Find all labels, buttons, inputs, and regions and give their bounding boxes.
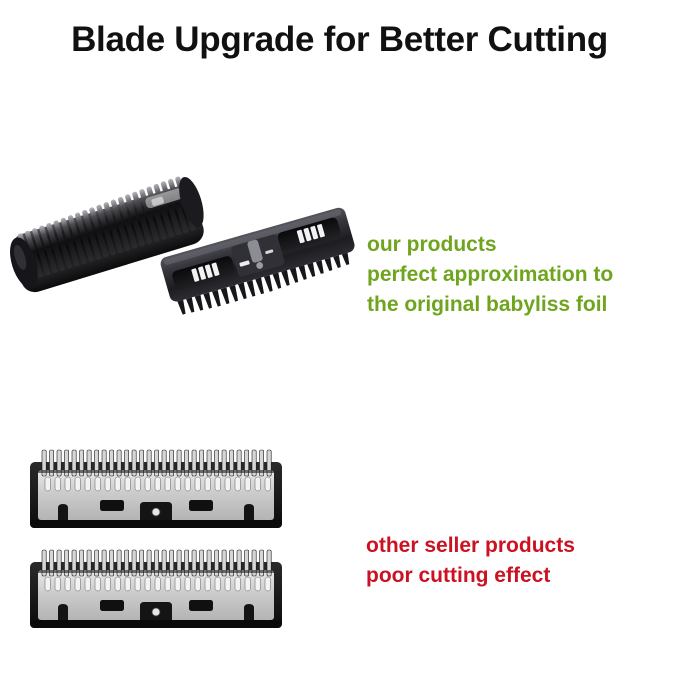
product-comparison-image: Blade Upgrade for Better Cutting [0,0,679,679]
product-image-other-seller-blade-1 [28,448,284,534]
our-products-caption-line-1: our products [367,230,613,260]
other-seller-blade-icon [28,448,284,534]
our-products-caption: our products perfect approximation to th… [367,230,613,320]
other-seller-caption-line-2: poor cutting effect [366,561,575,591]
our-products-caption-line-3: the original babyliss foil [367,290,613,320]
product-image-replacement-cutter [160,195,365,345]
page-title: Blade Upgrade for Better Cutting [0,20,679,60]
other-seller-caption-line-1: other seller products [366,531,575,561]
product-image-other-seller-blade-2 [28,548,284,634]
other-seller-caption: other seller products poor cutting effec… [366,531,575,591]
replacement-cutter-icon [160,195,365,345]
other-seller-blade-icon [28,548,284,634]
our-products-caption-line-2: perfect approximation to [367,260,613,290]
